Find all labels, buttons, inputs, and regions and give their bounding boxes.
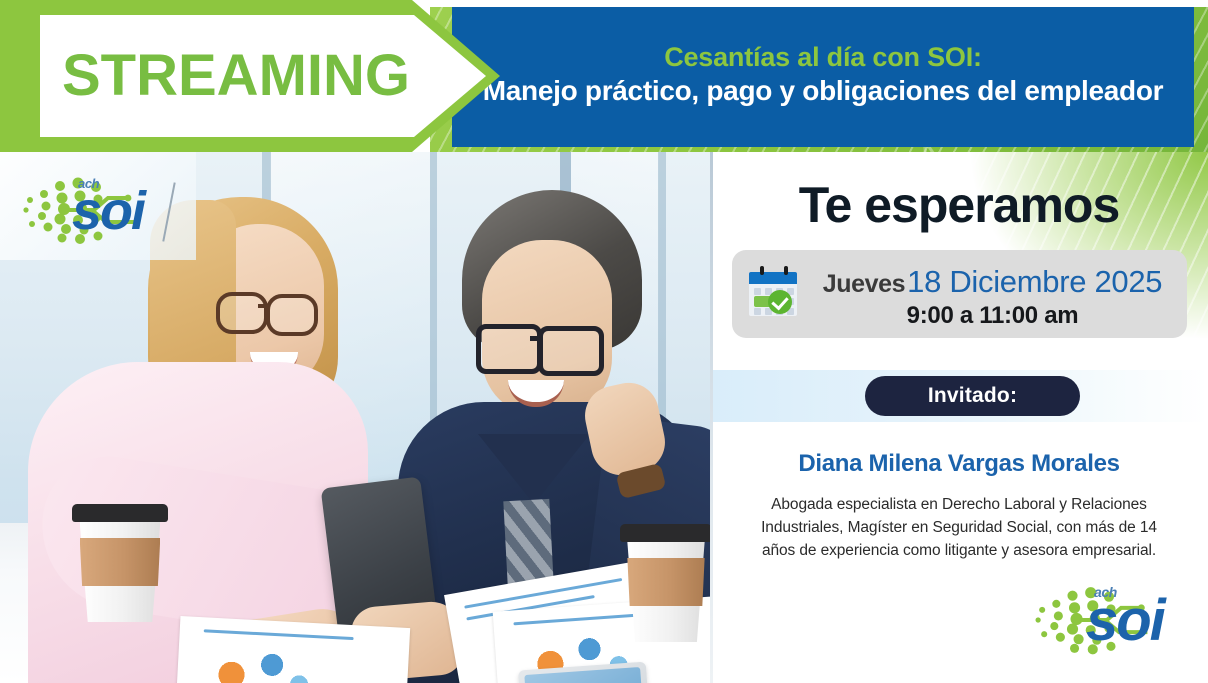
cup-lid [620,524,710,542]
hero-photo: ach soi [0,152,710,683]
invited-pill: Invitado: [865,376,1080,416]
calendar-ring [760,266,764,275]
event-date-chip: Jueves 18 Diciembre 2025 9:00 a 11:00 am [732,250,1187,338]
event-details-panel: Te esperamos Jueves [710,152,1208,683]
man-glasses-left [476,324,542,374]
calendar-cell [754,308,761,315]
soi-logo-word: soi [1086,592,1164,650]
header-band: Cesantías al día con SOI: Manejo práctic… [0,0,1208,152]
calendar-check-badge [768,290,792,314]
woman-glasses-bridge [258,304,270,308]
event-day-name: Jueves [823,270,905,299]
chart-graphic [206,644,319,683]
event-heading: Te esperamos [710,180,1208,230]
webinar-promo-banner: Cesantías al día con SOI: Manejo práctic… [0,0,1208,683]
speaker-name: Diana Milena Vargas Morales [710,450,1208,478]
cup-lid [72,504,168,522]
streaming-label: STREAMING [62,47,410,105]
man-glasses-bridge [530,336,542,341]
invited-label: Invitado: [928,384,1017,408]
soi-logo-bottom-right: ach soi [1028,580,1198,658]
event-date-row: Jueves 18 Diciembre 2025 [810,264,1175,300]
header-top-strip [430,0,1208,7]
coffee-cup [620,524,710,642]
streaming-chevron-inner: STREAMING [40,15,486,137]
calendar-check-icon [746,264,800,318]
woman-glasses-left [216,292,268,334]
header-title-line1: Cesantías al día con SOI: [664,42,982,72]
cup-sleeve [627,558,704,606]
soi-logo-word: soi [72,184,144,238]
header-title-block: Cesantías al día con SOI: Manejo práctic… [452,7,1194,147]
calendar-ring [784,266,788,275]
event-date: 18 Diciembre 2025 [907,264,1162,300]
header-title-line2: Manejo práctico, pago y obligaciones del… [483,75,1164,107]
calendar-cell [754,288,761,295]
paper-line [204,629,354,640]
coffee-cup [72,504,168,622]
soi-logo-top-left: ach soi [16,174,184,244]
document-paper [176,616,410,683]
cup-sleeve [80,538,161,586]
calendar-header-bar [749,272,797,284]
phone-screen [524,667,643,683]
speaker-bio: Abogada especialista en Derecho Laboral … [752,494,1166,563]
man-glasses-right [538,326,604,376]
woman-glasses-right [266,294,318,336]
event-time: 9:00 a 11:00 am [810,302,1175,330]
